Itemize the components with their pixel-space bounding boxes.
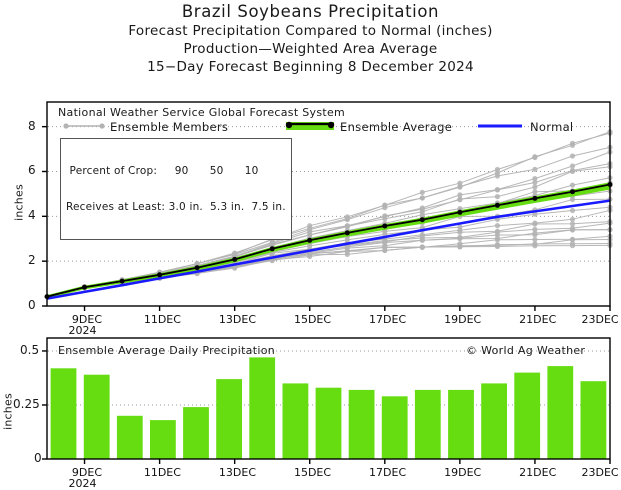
ensemble-member-point: [457, 197, 462, 202]
ensemble-member-point: [532, 176, 537, 181]
daily-precip-bar: [481, 383, 507, 459]
ensemble-member-point: [457, 181, 462, 186]
ensemble-member-point: [457, 225, 462, 230]
ensemble-average-point: [82, 285, 87, 290]
top-chart-y-tick-label: 8: [28, 119, 36, 133]
ensemble-average-point: [382, 224, 387, 229]
daily-precip-bar: [316, 388, 342, 459]
ensemble-member-point: [495, 187, 500, 192]
bottom-chart-x-tick-label: 19DEC: [444, 466, 481, 479]
ensemble-member-point: [570, 208, 575, 213]
legend-ensemble-members-dot: [63, 123, 68, 128]
ensemble-member-point: [382, 214, 387, 219]
ensemble-member-point: [457, 192, 462, 197]
top-chart-y-tick-label: 2: [28, 253, 36, 267]
percent-of-crop-row-1: Percent of Crop: 90 50 10: [66, 165, 286, 177]
top-chart-x-tick-label: 11DEC: [144, 313, 181, 326]
legend-ensemble-average-dot: [286, 122, 292, 128]
ensemble-average-point: [570, 189, 575, 194]
legend-ensemble-average-label: Ensemble Average: [340, 120, 452, 134]
percent-of-crop-box: Percent of Crop: 90 50 10 Receives at Le…: [60, 138, 292, 240]
top-chart-x-tick-label: 21DEC: [519, 313, 556, 326]
bottom-chart-x-tick-label: 17DEC: [369, 466, 406, 479]
ensemble-member-point: [532, 242, 537, 247]
ensemble-member-point: [532, 167, 537, 172]
ensemble-member-point: [532, 237, 537, 242]
ensemble-average-point: [420, 217, 425, 222]
ensemble-member-point: [457, 241, 462, 246]
top-chart-x-tick-label: 13DEC: [219, 313, 256, 326]
bottom-chart-x-tick-label: 11DEC: [144, 466, 181, 479]
daily-precip-bar: [581, 381, 607, 459]
ensemble-member-point: [457, 235, 462, 240]
bottom-chart-y-tick-label: 0: [34, 451, 42, 465]
ensemble-member-point: [420, 205, 425, 210]
ensemble-member-line: [47, 244, 610, 297]
chart-page: Brazil Soybeans Precipitation Forecast P…: [0, 0, 621, 478]
ensemble-average-point: [157, 272, 162, 277]
ensemble-average-point: [270, 246, 275, 251]
legend-source-label: National Weather Service Global Forecast…: [58, 106, 345, 119]
bottom-chart-y-axis-label: inches: [2, 382, 15, 442]
ensemble-member-point: [570, 168, 575, 173]
ensemble-member-point: [420, 190, 425, 195]
ensemble-member-point: [495, 242, 500, 247]
top-chart-x-tick-label: 15DEC: [294, 313, 331, 326]
ensemble-average-point: [195, 265, 200, 270]
copyright-label: © World Ag Weather: [466, 344, 585, 357]
ensemble-member-point: [570, 141, 575, 146]
ensemble-member-point: [570, 183, 575, 188]
ensemble-member-point: [307, 223, 312, 228]
ensemble-member-point: [420, 232, 425, 237]
ensemble-member-line: [47, 236, 610, 296]
daily-precip-bar: [382, 396, 408, 459]
ensemble-member-point: [570, 221, 575, 226]
top-chart-x-tick-label: 19DEC: [444, 313, 481, 326]
daily-precip-bar: [283, 383, 309, 459]
legend-ensemble-members-label: Ensemble Members: [110, 120, 228, 134]
ensemble-average-point: [307, 238, 312, 243]
ensemble-member-point: [570, 243, 575, 248]
ensemble-member-point: [495, 229, 500, 234]
bottom-panel-caption: Ensemble Average Daily Precipitation: [58, 344, 275, 357]
ensemble-member-point: [382, 203, 387, 208]
top-chart-y-tick-label: 4: [28, 208, 36, 222]
ensemble-member-point: [345, 223, 350, 228]
daily-precip-bar: [448, 390, 474, 459]
ensemble-member-point: [495, 194, 500, 199]
top-chart-x-tick-label: 23DEC: [582, 313, 619, 326]
daily-precip-bar: [84, 375, 110, 459]
bottom-chart-y-tick-label: 0.25: [13, 397, 40, 411]
bottom-chart-y-tick-label: 0.5: [20, 343, 39, 357]
percent-of-crop-row-2: Receives at Least: 3.0 in. 5.3 in. 7.5 i…: [66, 201, 286, 213]
ensemble-average-point: [532, 196, 537, 201]
top-chart-y-tick-label: 6: [28, 163, 36, 177]
legend-normal-label: Normal: [530, 120, 573, 134]
ensemble-member-point: [570, 163, 575, 168]
legend-ensemble-average-dot: [328, 122, 334, 128]
top-chart-y-axis-label: inches: [13, 173, 26, 233]
daily-precip-bar: [183, 407, 209, 459]
bottom-chart-x-tick-label: 13DEC: [219, 466, 256, 479]
ensemble-member-point: [495, 167, 500, 172]
ensemble-average-point: [457, 210, 462, 215]
ensemble-member-point: [570, 217, 575, 222]
ensemble-member-point: [532, 221, 537, 226]
daily-precip-bar: [216, 379, 242, 459]
ensemble-member-point: [532, 155, 537, 160]
ensemble-member-point: [232, 251, 237, 256]
ensemble-member-line: [47, 245, 610, 296]
ensemble-average-point: [120, 279, 125, 284]
ensemble-member-point: [420, 245, 425, 250]
ensemble-member-point: [495, 223, 500, 228]
ensemble-member-point: [495, 236, 500, 241]
daily-precip-bar: [150, 420, 176, 459]
bottom-chart-x-year-label: 2024: [69, 477, 97, 490]
ensemble-average-point: [232, 257, 237, 262]
bottom-chart-x-tick-label: 21DEC: [519, 466, 556, 479]
bottom-chart-x-tick-label: 23DEC: [582, 466, 619, 479]
ensemble-member-point: [570, 153, 575, 158]
ensemble-member-point: [570, 237, 575, 242]
ensemble-member-point: [532, 227, 537, 232]
daily-precip-bar: [117, 416, 143, 459]
top-chart-x-tick-label: 17DEC: [369, 313, 406, 326]
ensemble-member-point: [345, 214, 350, 219]
legend-ensemble-members-dot: [99, 123, 104, 128]
daily-precip-bar: [249, 357, 275, 459]
daily-precip-bar: [547, 366, 573, 459]
daily-precip-bar: [349, 390, 375, 459]
daily-precip-bar: [415, 390, 441, 459]
ensemble-average-point: [345, 230, 350, 235]
daily-precip-bar: [514, 373, 540, 459]
daily-precip-bar: [51, 368, 77, 459]
top-chart-y-tick-label: 0: [28, 298, 36, 312]
top-chart-x-year-label: 2024: [69, 324, 97, 337]
ensemble-member-point: [420, 195, 425, 200]
ensemble-member-point: [532, 184, 537, 189]
ensemble-average-point: [495, 203, 500, 208]
bottom-chart-x-tick-label: 15DEC: [294, 466, 331, 479]
